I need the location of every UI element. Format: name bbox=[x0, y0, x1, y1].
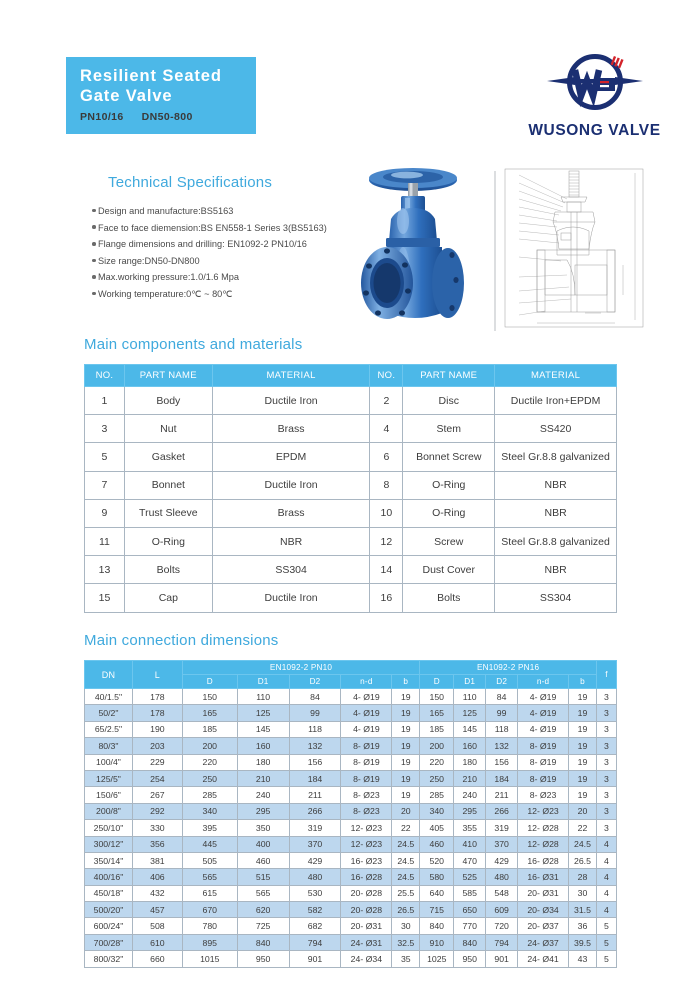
table-cell: 3 bbox=[596, 689, 616, 705]
table-cell: 565 bbox=[182, 869, 237, 885]
table-cell: 600/24" bbox=[85, 918, 133, 934]
table-cell: 13 bbox=[85, 556, 125, 584]
bullet-icon bbox=[92, 209, 96, 213]
table-cell: Bonnet Screw bbox=[403, 443, 495, 471]
components-table: NO. PART NAME MATERIAL NO. PART NAME MAT… bbox=[84, 364, 617, 613]
table-cell: 210 bbox=[454, 770, 486, 786]
table-cell: Brass bbox=[212, 415, 370, 443]
table-cell: 8- Ø23 bbox=[518, 787, 569, 803]
table-cell: 794 bbox=[289, 934, 341, 950]
table-cell: 145 bbox=[237, 721, 289, 737]
table-row: 7BonnetDuctile Iron8O-RingNBR bbox=[85, 471, 617, 499]
table-cell: 400/16" bbox=[85, 869, 133, 885]
table-cell: SS304 bbox=[495, 584, 617, 612]
table-cell: 32.5 bbox=[392, 934, 420, 950]
col-pn16-b: b bbox=[568, 675, 596, 689]
table-cell: Screw bbox=[403, 527, 495, 555]
table-cell: SS420 bbox=[495, 415, 617, 443]
table-cell: 12- Ø23 bbox=[518, 803, 569, 819]
table-cell: 19 bbox=[568, 721, 596, 737]
table-cell: Steel Gr.8.8 galvanized bbox=[495, 527, 617, 555]
table-cell: 460 bbox=[237, 852, 289, 868]
col-pn16-d1: D1 bbox=[454, 675, 486, 689]
product-title-block: Resilient Seated Gate Valve PN10/16DN50-… bbox=[66, 57, 256, 134]
table-cell: 24- Ø31 bbox=[341, 934, 392, 950]
spec-item-text: Max.working pressure:1.0/1.6 Mpa bbox=[98, 272, 239, 282]
table-cell: 292 bbox=[132, 803, 182, 819]
table-cell: 35 bbox=[392, 951, 420, 967]
table-cell: 840 bbox=[237, 934, 289, 950]
col-part-name-2: PART NAME bbox=[403, 365, 495, 387]
bullet-icon bbox=[92, 259, 96, 263]
table-cell: 4- Ø19 bbox=[341, 689, 392, 705]
col-no-1: NO. bbox=[85, 365, 125, 387]
table-row: 500/20"45767062058220- Ø2826.57156506092… bbox=[85, 902, 617, 918]
table-row: 50/2"178165125994- Ø1919165125994- Ø1919… bbox=[85, 705, 617, 721]
table-cell: 285 bbox=[420, 787, 454, 803]
table-cell: 4- Ø19 bbox=[341, 721, 392, 737]
table-cell: 5 bbox=[85, 443, 125, 471]
table-cell: 200 bbox=[420, 738, 454, 754]
product-photo-gate-valve bbox=[345, 163, 510, 338]
table-cell: 895 bbox=[182, 934, 237, 950]
table-cell: Stem bbox=[403, 415, 495, 443]
table-cell: 20- Ø37 bbox=[518, 918, 569, 934]
table-cell: 99 bbox=[486, 705, 518, 721]
table-cell: 8- Ø23 bbox=[341, 803, 392, 819]
table-cell: 220 bbox=[420, 754, 454, 770]
table-cell: Brass bbox=[212, 499, 370, 527]
col-dn: DN bbox=[85, 661, 133, 689]
table-cell: 200 bbox=[182, 738, 237, 754]
table-cell: Disc bbox=[403, 387, 495, 415]
table-cell: 285 bbox=[182, 787, 237, 803]
table-row: 5GasketEPDM6Bonnet ScrewSteel Gr.8.8 gal… bbox=[85, 443, 617, 471]
table-cell: NBR bbox=[495, 556, 617, 584]
col-f: f bbox=[596, 661, 616, 689]
table-cell: 250 bbox=[420, 770, 454, 786]
table-cell: 620 bbox=[237, 902, 289, 918]
table-cell: Gasket bbox=[124, 443, 212, 471]
col-pn10-d1: D1 bbox=[237, 675, 289, 689]
table-cell: 118 bbox=[289, 721, 341, 737]
table-cell: 150 bbox=[420, 689, 454, 705]
table-row: 125/5"2542502101848- Ø19192502101848- Ø1… bbox=[85, 770, 617, 786]
table-cell: 19 bbox=[568, 738, 596, 754]
table-cell: 84 bbox=[486, 689, 518, 705]
table-row: 9Trust SleeveBrass10O-RingNBR bbox=[85, 499, 617, 527]
table-row: 11O-RingNBR12ScrewSteel Gr.8.8 galvanize… bbox=[85, 527, 617, 555]
table-cell: 160 bbox=[454, 738, 486, 754]
table-cell: 670 bbox=[182, 902, 237, 918]
table-cell: 20- Ø31 bbox=[518, 885, 569, 901]
table-cell: 400 bbox=[237, 836, 289, 852]
table-cell: 505 bbox=[182, 852, 237, 868]
table-cell: 3 bbox=[596, 738, 616, 754]
col-pn10-b: b bbox=[392, 675, 420, 689]
table-cell: 185 bbox=[182, 721, 237, 737]
table-cell: 901 bbox=[289, 951, 341, 967]
table-cell: 580 bbox=[420, 869, 454, 885]
col-material-1: MATERIAL bbox=[212, 365, 370, 387]
table-cell: 3 bbox=[596, 803, 616, 819]
table-cell: 715 bbox=[420, 902, 454, 918]
table-row: 400/16"40656551548016- Ø2824.55805254801… bbox=[85, 869, 617, 885]
table-cell: 460 bbox=[420, 836, 454, 852]
table-cell: 12- Ø23 bbox=[341, 836, 392, 852]
col-pn10-nd: n-d bbox=[341, 675, 392, 689]
table-cell: 7 bbox=[85, 471, 125, 499]
table-cell: 682 bbox=[289, 918, 341, 934]
table-cell: 3 bbox=[85, 415, 125, 443]
table-cell: 19 bbox=[568, 787, 596, 803]
table-cell: 4 bbox=[596, 885, 616, 901]
table-cell: 780 bbox=[182, 918, 237, 934]
table-cell: 150 bbox=[182, 689, 237, 705]
section-heading-components: Main components and materials bbox=[84, 336, 302, 353]
table-cell: 19 bbox=[568, 754, 596, 770]
table-cell: 178 bbox=[132, 705, 182, 721]
table-row: 100/4"2292201801568- Ø19192201801568- Ø1… bbox=[85, 754, 617, 770]
table-cell: 20 bbox=[392, 803, 420, 819]
table-cell: NBR bbox=[212, 527, 370, 555]
dimensions-header-row-1: DN L EN1092-2 PN10 EN1092-2 PN16 f bbox=[85, 661, 617, 675]
table-cell: 3 bbox=[596, 820, 616, 836]
table-cell: 125 bbox=[237, 705, 289, 721]
table-row: 40/1.5"178150110844- Ø1919150110844- Ø19… bbox=[85, 689, 617, 705]
table-cell: O-Ring bbox=[403, 499, 495, 527]
table-cell: 3 bbox=[596, 721, 616, 737]
spec-item-text: Design and manufacture:BS5163 bbox=[98, 206, 233, 216]
table-cell: 250/10" bbox=[85, 820, 133, 836]
table-cell: 405 bbox=[420, 820, 454, 836]
table-cell: 99 bbox=[289, 705, 341, 721]
table-cell: Cap bbox=[124, 584, 212, 612]
table-cell: Dust Cover bbox=[403, 556, 495, 584]
table-cell: 250 bbox=[182, 770, 237, 786]
table-cell: 12- Ø28 bbox=[518, 820, 569, 836]
table-cell: 525 bbox=[454, 869, 486, 885]
product-title-subline: PN10/16DN50-800 bbox=[80, 111, 256, 123]
bullet-icon bbox=[92, 225, 96, 229]
table-cell: 8- Ø19 bbox=[341, 754, 392, 770]
table-cell: 16- Ø23 bbox=[341, 852, 392, 868]
table-cell: 180 bbox=[454, 754, 486, 770]
table-cell: Ductile Iron bbox=[212, 471, 370, 499]
table-cell: 229 bbox=[132, 754, 182, 770]
table-cell: 11 bbox=[85, 527, 125, 555]
table-cell: 22 bbox=[392, 820, 420, 836]
table-cell: 203 bbox=[132, 738, 182, 754]
table-cell: 118 bbox=[486, 721, 518, 737]
table-cell: 100/4" bbox=[85, 754, 133, 770]
table-cell: 585 bbox=[454, 885, 486, 901]
table-cell: 16 bbox=[370, 584, 403, 612]
table-cell: Body bbox=[124, 387, 212, 415]
table-cell: 3 bbox=[596, 754, 616, 770]
table-cell: 406 bbox=[132, 869, 182, 885]
table-cell: 565 bbox=[237, 885, 289, 901]
table-cell: 125 bbox=[454, 705, 486, 721]
table-cell: 266 bbox=[289, 803, 341, 819]
table-row: 3NutBrass4StemSS420 bbox=[85, 415, 617, 443]
table-row: 200/8"2923402952668- Ø232034029526612- Ø… bbox=[85, 803, 617, 819]
table-cell: 381 bbox=[132, 852, 182, 868]
table-cell: 432 bbox=[132, 885, 182, 901]
table-cell: 4- Ø19 bbox=[518, 705, 569, 721]
table-row: 65/2.5"1901851451184- Ø19191851451184- Ø… bbox=[85, 721, 617, 737]
col-pn16-d: D bbox=[420, 675, 454, 689]
product-title-line-1: Resilient Seated bbox=[80, 66, 256, 86]
table-cell: 910 bbox=[420, 934, 454, 950]
table-cell: 1025 bbox=[420, 951, 454, 967]
table-cell: 8- Ø19 bbox=[518, 770, 569, 786]
table-cell: Ductile Iron bbox=[212, 584, 370, 612]
table-cell: 615 bbox=[182, 885, 237, 901]
brand-name: WUSONG VALVE bbox=[512, 122, 677, 140]
table-cell: 180 bbox=[237, 754, 289, 770]
table-cell: 3 bbox=[596, 770, 616, 786]
col-pn10-d: D bbox=[182, 675, 237, 689]
datasheet-page: Resilient Seated Gate Valve PN10/16DN50-… bbox=[0, 0, 700, 989]
table-row: 80/3"2032001601328- Ø19192001601328- Ø19… bbox=[85, 738, 617, 754]
table-cell: Bonnet bbox=[124, 471, 212, 499]
spec-item-text: Working temperature:0℃ ~ 80℃ bbox=[98, 289, 233, 299]
table-cell: 19 bbox=[392, 738, 420, 754]
table-cell: 240 bbox=[454, 787, 486, 803]
dimensions-table: DN L EN1092-2 PN10 EN1092-2 PN16 f D D1 … bbox=[84, 660, 617, 968]
table-cell: 43 bbox=[568, 951, 596, 967]
table-cell: Trust Sleeve bbox=[124, 499, 212, 527]
table-cell: NBR bbox=[495, 471, 617, 499]
table-cell: 24- Ø41 bbox=[518, 951, 569, 967]
product-cross-section-drawing bbox=[497, 165, 652, 333]
table-cell: 5 bbox=[596, 951, 616, 967]
table-cell: 3 bbox=[596, 705, 616, 721]
table-cell: 8- Ø23 bbox=[341, 787, 392, 803]
table-cell: 410 bbox=[454, 836, 486, 852]
table-cell: 26.5 bbox=[392, 902, 420, 918]
table-cell: 582 bbox=[289, 902, 341, 918]
table-cell: 20 bbox=[568, 803, 596, 819]
table-cell: 24.5 bbox=[392, 852, 420, 868]
table-row: 15CapDuctile Iron16BoltsSS304 bbox=[85, 584, 617, 612]
table-cell: 24- Ø37 bbox=[518, 934, 569, 950]
table-cell: Ductile Iron+EPDM bbox=[495, 387, 617, 415]
table-cell: 640 bbox=[420, 885, 454, 901]
table-cell: 145 bbox=[454, 721, 486, 737]
table-cell: 4 bbox=[596, 869, 616, 885]
table-cell: 80/3" bbox=[85, 738, 133, 754]
table-cell: 5 bbox=[596, 934, 616, 950]
table-cell: 28 bbox=[568, 869, 596, 885]
table-cell: 211 bbox=[289, 787, 341, 803]
table-cell: 19 bbox=[568, 705, 596, 721]
section-heading-dimensions: Main connection dimensions bbox=[84, 632, 278, 649]
table-row: 150/6"2672852402118- Ø23192852402118- Ø2… bbox=[85, 787, 617, 803]
table-cell: 19 bbox=[568, 689, 596, 705]
table-cell: 132 bbox=[486, 738, 518, 754]
table-cell: 15 bbox=[85, 584, 125, 612]
col-pn16-nd: n-d bbox=[518, 675, 569, 689]
table-cell: 19 bbox=[392, 787, 420, 803]
table-cell: 19 bbox=[392, 705, 420, 721]
table-cell: 110 bbox=[237, 689, 289, 705]
table-cell: 39.5 bbox=[568, 934, 596, 950]
table-cell: 319 bbox=[486, 820, 518, 836]
table-cell: 40/1.5" bbox=[85, 689, 133, 705]
table-cell: 24- Ø34 bbox=[341, 951, 392, 967]
table-cell: 330 bbox=[132, 820, 182, 836]
table-cell: 450/18" bbox=[85, 885, 133, 901]
table-cell: 24.5 bbox=[392, 836, 420, 852]
table-cell: Steel Gr.8.8 galvanized bbox=[495, 443, 617, 471]
bullet-icon bbox=[92, 275, 96, 279]
col-no-2: NO. bbox=[370, 365, 403, 387]
table-cell: 520 bbox=[420, 852, 454, 868]
logo-mark-icon bbox=[545, 52, 645, 120]
table-cell: 24.5 bbox=[392, 869, 420, 885]
table-cell: 457 bbox=[132, 902, 182, 918]
table-cell: 8- Ø19 bbox=[518, 754, 569, 770]
table-cell: 700/28" bbox=[85, 934, 133, 950]
table-row: 600/24"50878072568220- Ø313084077072020-… bbox=[85, 918, 617, 934]
table-cell: 210 bbox=[237, 770, 289, 786]
table-cell: 4 bbox=[596, 852, 616, 868]
col-l: L bbox=[132, 661, 182, 689]
table-cell: 190 bbox=[132, 721, 182, 737]
table-cell: 240 bbox=[237, 787, 289, 803]
table-cell: 36 bbox=[568, 918, 596, 934]
table-cell: 800/32" bbox=[85, 951, 133, 967]
company-logo: WUSONG VALVE bbox=[512, 52, 677, 152]
table-cell: 340 bbox=[182, 803, 237, 819]
col-group-pn16: EN1092-2 PN16 bbox=[420, 661, 597, 675]
table-cell: 480 bbox=[486, 869, 518, 885]
table-cell: 4 bbox=[370, 415, 403, 443]
table-cell: 2 bbox=[370, 387, 403, 415]
table-cell: 5 bbox=[596, 918, 616, 934]
table-cell: 200/8" bbox=[85, 803, 133, 819]
table-cell: 20- Ø31 bbox=[341, 918, 392, 934]
table-cell: 19 bbox=[568, 770, 596, 786]
table-cell: 350 bbox=[237, 820, 289, 836]
table-cell: 530 bbox=[289, 885, 341, 901]
table-cell: 8- Ø19 bbox=[341, 770, 392, 786]
col-pn16-d2: D2 bbox=[486, 675, 518, 689]
table-cell: 16- Ø28 bbox=[341, 869, 392, 885]
table-cell: 300/12" bbox=[85, 836, 133, 852]
table-cell: 156 bbox=[289, 754, 341, 770]
table-cell: 12 bbox=[370, 527, 403, 555]
table-cell: 16- Ø31 bbox=[518, 869, 569, 885]
table-cell: 395 bbox=[182, 820, 237, 836]
table-row: 13BoltsSS30414Dust CoverNBR bbox=[85, 556, 617, 584]
table-cell: 548 bbox=[486, 885, 518, 901]
table-cell: 8 bbox=[370, 471, 403, 499]
table-cell: 500/20" bbox=[85, 902, 133, 918]
table-cell: 19 bbox=[392, 754, 420, 770]
table-cell: 184 bbox=[289, 770, 341, 786]
table-cell: 20- Ø28 bbox=[341, 902, 392, 918]
table-cell: 211 bbox=[486, 787, 518, 803]
table-cell: 178 bbox=[132, 689, 182, 705]
table-row: 700/28"61089584079424- Ø3132.59108407942… bbox=[85, 934, 617, 950]
table-cell: 110 bbox=[454, 689, 486, 705]
table-cell: 470 bbox=[454, 852, 486, 868]
table-cell: 720 bbox=[486, 918, 518, 934]
table-cell: 515 bbox=[237, 869, 289, 885]
table-cell: 24.5 bbox=[568, 836, 596, 852]
table-cell: 794 bbox=[486, 934, 518, 950]
table-cell: 340 bbox=[420, 803, 454, 819]
table-cell: 950 bbox=[454, 951, 486, 967]
table-cell: 480 bbox=[289, 869, 341, 885]
table-cell: 295 bbox=[454, 803, 486, 819]
bullet-icon bbox=[92, 292, 96, 296]
pressure-rating-label: PN10/16 bbox=[80, 111, 124, 123]
table-cell: SS304 bbox=[212, 556, 370, 584]
table-cell: 609 bbox=[486, 902, 518, 918]
table-row: 250/10"33039535031912- Ø232240535531912-… bbox=[85, 820, 617, 836]
table-row: 350/14"38150546042916- Ø2324.55204704291… bbox=[85, 852, 617, 868]
table-cell: 650 bbox=[454, 902, 486, 918]
table-cell: 266 bbox=[486, 803, 518, 819]
table-cell: 901 bbox=[486, 951, 518, 967]
table-cell: 445 bbox=[182, 836, 237, 852]
table-cell: 429 bbox=[486, 852, 518, 868]
table-cell: Bolts bbox=[124, 556, 212, 584]
table-cell: 770 bbox=[454, 918, 486, 934]
table-cell: 165 bbox=[420, 705, 454, 721]
table-cell: 4 bbox=[596, 902, 616, 918]
table-cell: EPDM bbox=[212, 443, 370, 471]
table-cell: 610 bbox=[132, 934, 182, 950]
table-cell: 508 bbox=[132, 918, 182, 934]
bullet-icon bbox=[92, 242, 96, 246]
components-table-body: 1BodyDuctile Iron2DiscDuctile Iron+EPDM3… bbox=[85, 387, 617, 613]
table-cell: 165 bbox=[182, 705, 237, 721]
table-cell: 25.5 bbox=[392, 885, 420, 901]
table-cell: 65/2.5" bbox=[85, 721, 133, 737]
product-title-line-2: Gate Valve bbox=[80, 86, 256, 106]
table-cell: 9 bbox=[85, 499, 125, 527]
table-cell: 26.5 bbox=[568, 852, 596, 868]
table-cell: 22 bbox=[568, 820, 596, 836]
table-cell: 4 bbox=[596, 836, 616, 852]
table-cell: 429 bbox=[289, 852, 341, 868]
table-cell: 6 bbox=[370, 443, 403, 471]
table-cell: 319 bbox=[289, 820, 341, 836]
spec-item-text: Size range:DN50-DN800 bbox=[98, 256, 200, 266]
table-cell: 950 bbox=[237, 951, 289, 967]
col-material-2: MATERIAL bbox=[495, 365, 617, 387]
table-cell: 84 bbox=[289, 689, 341, 705]
table-cell: 14 bbox=[370, 556, 403, 584]
table-cell: 19 bbox=[392, 689, 420, 705]
table-cell: 370 bbox=[486, 836, 518, 852]
table-cell: 840 bbox=[420, 918, 454, 934]
table-cell: 156 bbox=[486, 754, 518, 770]
table-cell: 295 bbox=[237, 803, 289, 819]
table-cell: 8- Ø19 bbox=[518, 738, 569, 754]
table-cell: 370 bbox=[289, 836, 341, 852]
table-cell: 132 bbox=[289, 738, 341, 754]
size-range-label: DN50-800 bbox=[142, 111, 193, 123]
table-cell: 267 bbox=[132, 787, 182, 803]
table-cell: 50/2" bbox=[85, 705, 133, 721]
table-cell: 19 bbox=[392, 721, 420, 737]
